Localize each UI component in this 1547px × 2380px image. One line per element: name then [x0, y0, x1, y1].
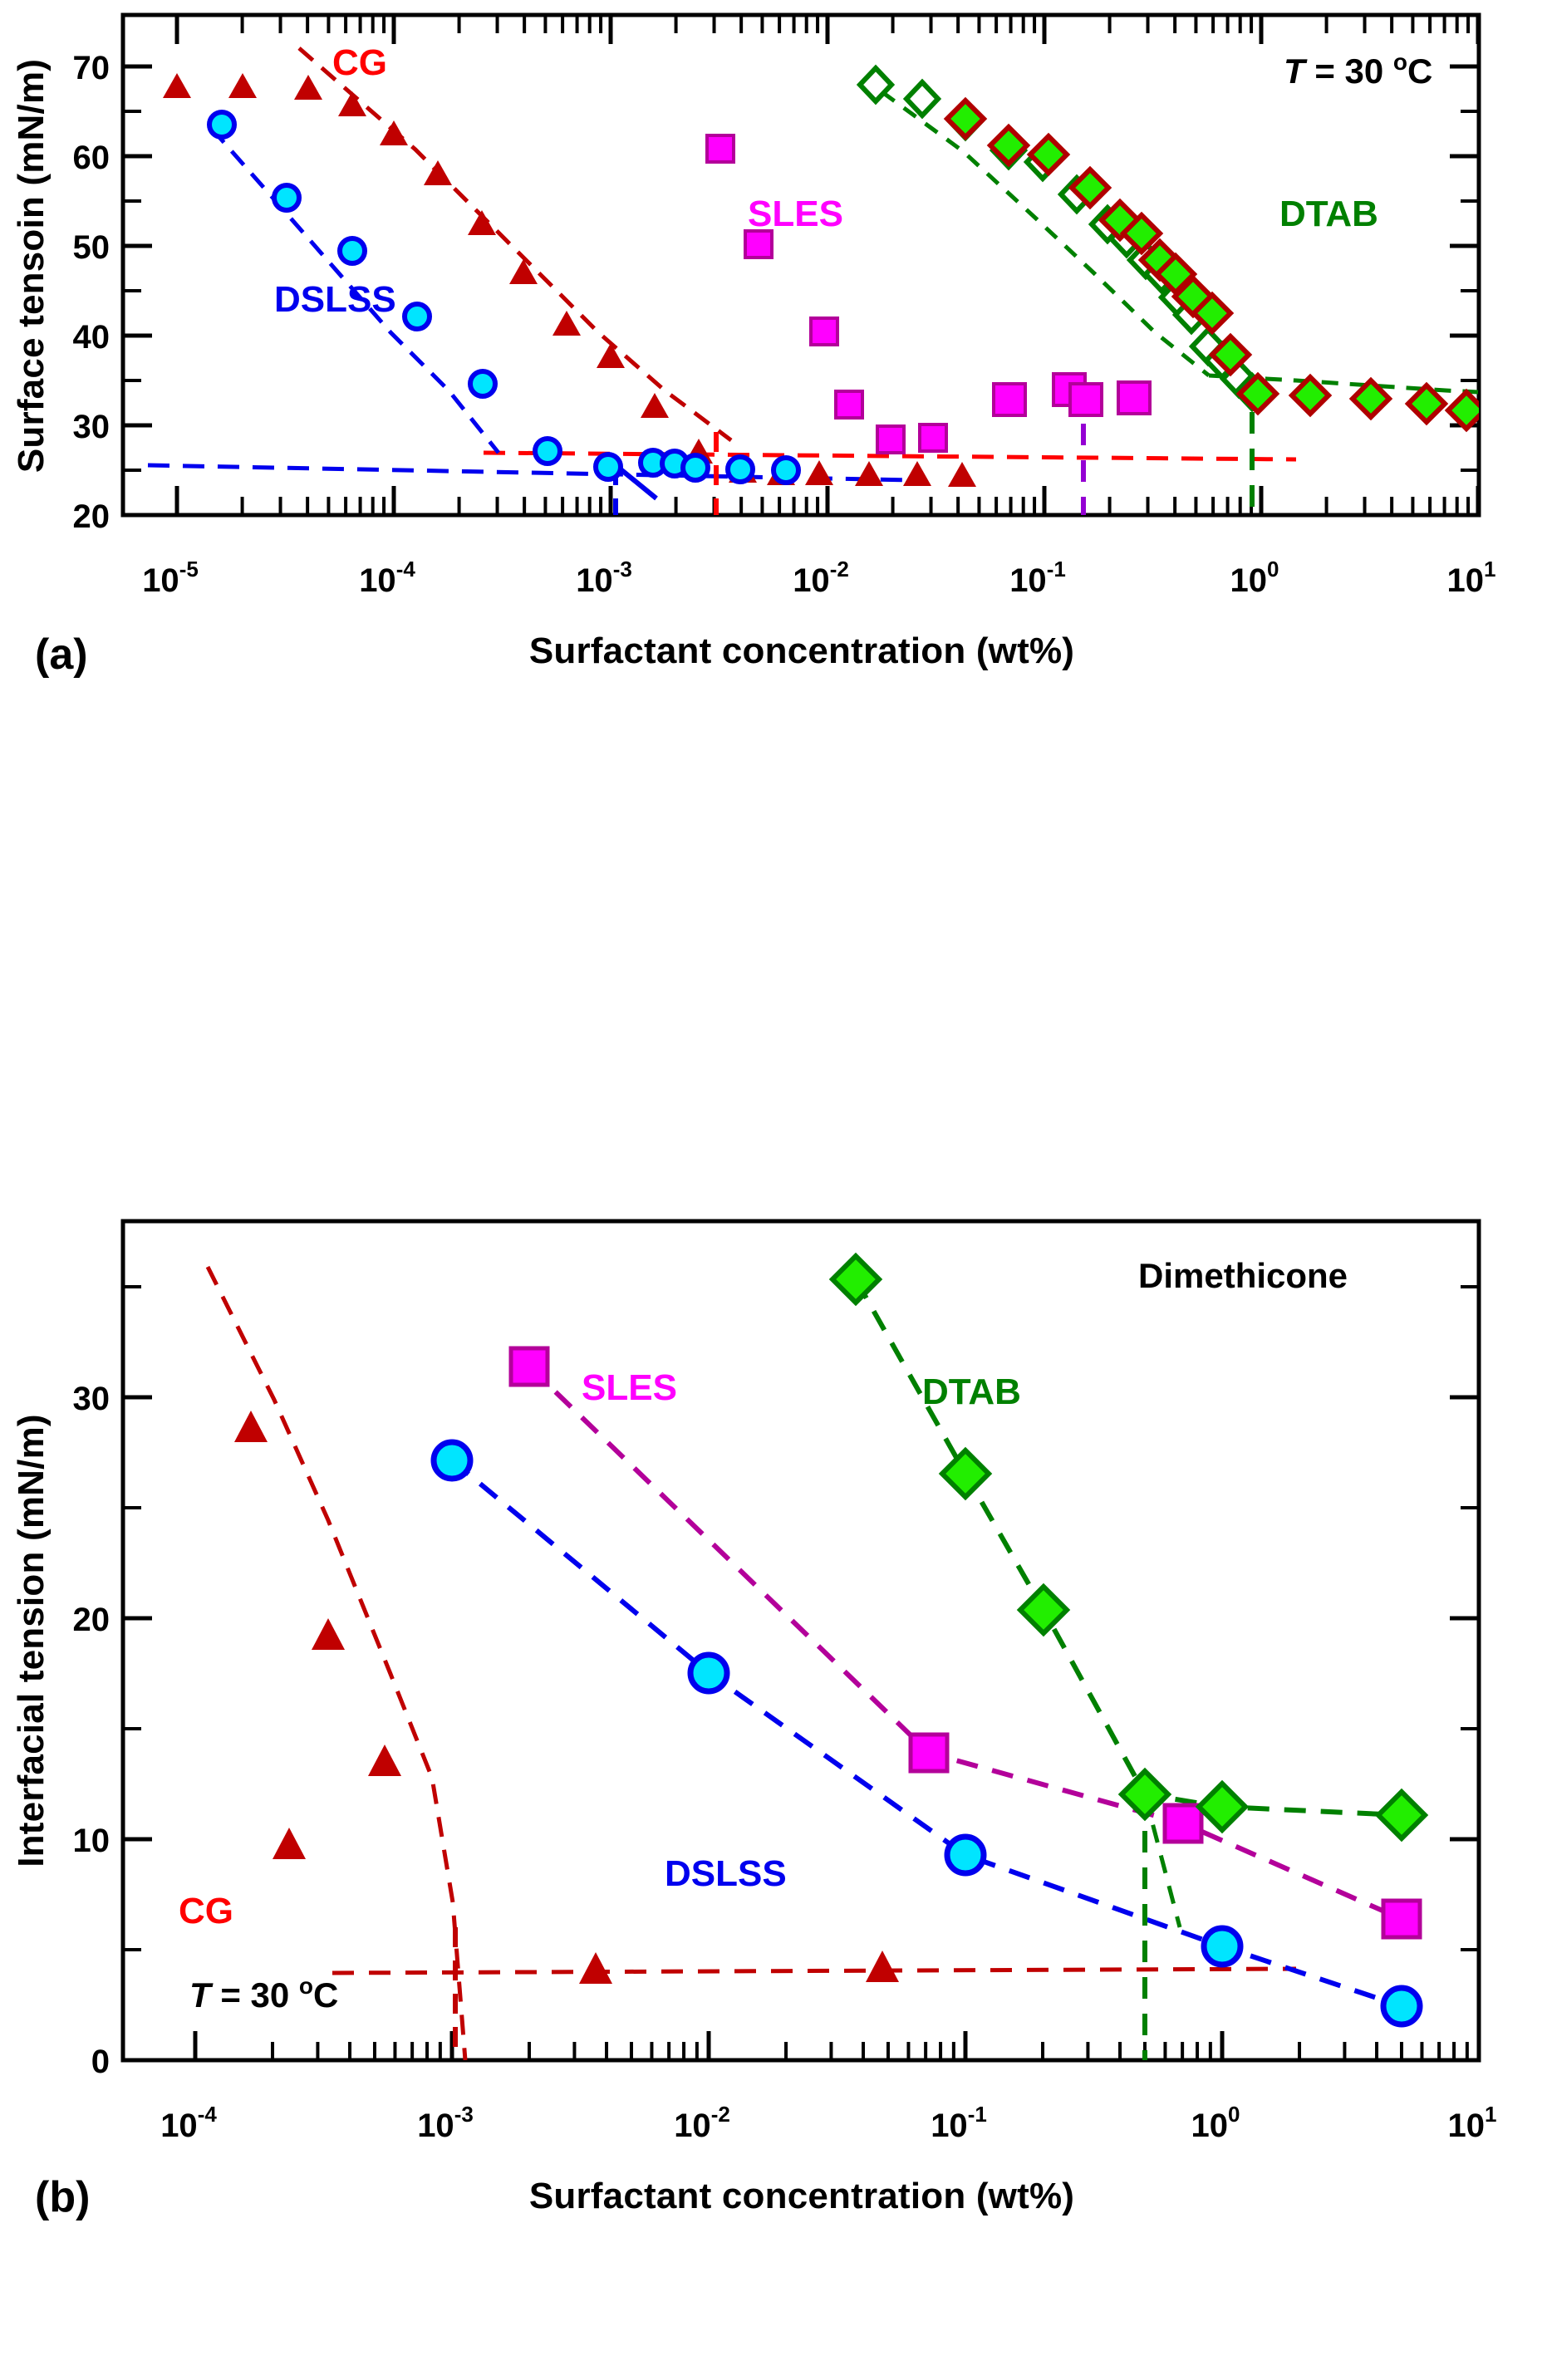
- x-tick-base: 10: [1191, 2108, 1229, 2144]
- svg-text:100: 100: [1191, 2102, 1240, 2144]
- x-tick-base: 10: [1009, 562, 1047, 599]
- panel-b-y-axis-ticks: [123, 1397, 1479, 2060]
- panel-b: 0 10 20 30 10-4 10-3 10-2 10-1 100 101 C…: [0, 1196, 1547, 2380]
- x-tick-exp: 1: [1484, 557, 1495, 582]
- x-tick-base: 10: [576, 562, 613, 599]
- panel-a-y-axis-title: Surface tensoin (mN/m): [11, 59, 52, 473]
- series-label-sles: SLES: [582, 1367, 677, 1408]
- oil-annotation: Dimethicone: [1138, 1256, 1348, 1295]
- y-tick-label: 10: [73, 1823, 110, 1859]
- x-tick-base: 10: [1230, 562, 1268, 599]
- temp-symbol: T: [189, 1975, 214, 2014]
- x-tick-exp: -4: [198, 2102, 218, 2127]
- panel-a-svg: 20 30 40 50 60 70 10-5 10-4 10-3 10-2 10…: [0, 0, 1547, 1180]
- x-tick-base: 10: [160, 2108, 198, 2144]
- x-tick-base: 10: [1448, 2108, 1486, 2144]
- y-tick-label: 20: [73, 1602, 110, 1638]
- series-cg-markers-b: [234, 1411, 899, 1984]
- x-tick-exp: -3: [454, 2102, 474, 2127]
- temp-value: = 30: [1305, 52, 1393, 91]
- panel-a-x-tick-labels: 10-5 10-4 10-3 10-2 10-1 100 101: [142, 557, 1495, 599]
- series-dtab-filled-markers-a: [947, 101, 1485, 429]
- y-tick-label: 0: [91, 2044, 110, 2080]
- series-label-dslss: DSLSS: [665, 1853, 787, 1894]
- svg-text:100: 100: [1230, 557, 1279, 599]
- y-tick-label: 70: [73, 50, 110, 86]
- panel-a-label: (a): [35, 631, 88, 679]
- panel-b-y-axis-title: Interfacial tension (mN/m): [11, 1414, 52, 1867]
- series-label-cg: CG: [179, 1891, 233, 1931]
- y-tick-label: 20: [73, 498, 110, 535]
- degree-symbol: o: [299, 1973, 313, 1999]
- y-tick-label: 40: [73, 319, 110, 356]
- series-label-dtab: DTAB: [1279, 194, 1378, 234]
- panel-b-x-axis-ticks: [195, 2031, 1479, 2060]
- svg-text:10-4: 10-4: [359, 557, 415, 599]
- panel-a-y-tick-labels: 20 30 40 50 60 70: [73, 50, 110, 535]
- x-tick-exp: -2: [711, 2102, 730, 2127]
- svg-text:10-2: 10-2: [793, 557, 849, 599]
- svg-text:10-2: 10-2: [674, 2102, 730, 2144]
- x-tick-exp: -3: [613, 557, 632, 582]
- panel-b-x-tick-labels: 10-4 10-3 10-2 10-1 100 101: [160, 2102, 1496, 2144]
- x-tick-exp: 1: [1485, 2102, 1496, 2127]
- panel-b-x-axis-title: Surfactant concentration (wt%): [529, 2176, 1074, 2216]
- temperature-annotation: T = 30 oC: [1284, 49, 1432, 91]
- y-tick-label: 30: [73, 1381, 110, 1417]
- x-tick-base: 10: [674, 2108, 711, 2144]
- series-label-dtab: DTAB: [922, 1372, 1021, 1412]
- panel-a-frame: [123, 15, 1479, 515]
- x-tick-base: 10: [142, 562, 179, 599]
- x-tick-exp: -5: [179, 557, 199, 582]
- y-tick-label: 50: [73, 229, 110, 266]
- y-tick-label: 30: [73, 409, 110, 445]
- temp-value: = 30: [211, 1975, 299, 2014]
- panel-b-y-axis-minor-ticks: [123, 1287, 1479, 1950]
- svg-text:10-5: 10-5: [142, 557, 199, 599]
- svg-text:10-4: 10-4: [160, 2102, 217, 2144]
- x-tick-base: 10: [359, 562, 396, 599]
- panel-b-label: (b): [35, 2173, 90, 2221]
- x-tick-exp: -1: [1047, 557, 1066, 582]
- panel-a-x-axis-title: Surfactant concentration (wt%): [529, 631, 1074, 671]
- svg-text:10-3: 10-3: [576, 557, 632, 599]
- x-tick-base: 10: [417, 2108, 454, 2144]
- svg-text:10-1: 10-1: [931, 2102, 987, 2144]
- series-label-cg: CG: [332, 42, 387, 83]
- temperature-annotation: T = 30 oC: [189, 1973, 338, 2014]
- series-dtab-open-markers-a: [860, 68, 1268, 409]
- x-tick-exp: 0: [1267, 557, 1279, 582]
- series-dslss-line-a: [148, 129, 914, 480]
- svg-text:101: 101: [1448, 2102, 1497, 2144]
- x-tick-exp: -1: [968, 2102, 987, 2127]
- celsius-symbol: C: [1407, 52, 1432, 91]
- series-label-dslss: DSLSS: [274, 279, 396, 320]
- x-tick-exp: -4: [396, 557, 416, 582]
- panel-a: 20 30 40 50 60 70 10-5 10-4 10-3 10-2 10…: [0, 0, 1547, 1180]
- series-cg-line-b: [208, 1267, 1296, 2062]
- svg-text:101: 101: [1447, 557, 1496, 599]
- temp-symbol: T: [1284, 52, 1308, 91]
- x-tick-base: 10: [1447, 562, 1485, 599]
- series-label-sles: SLES: [748, 194, 843, 234]
- panel-b-svg: 0 10 20 30 10-4 10-3 10-2 10-1 100 101 C…: [0, 1196, 1547, 2380]
- svg-text:10-3: 10-3: [417, 2102, 474, 2144]
- svg-text:10-1: 10-1: [1009, 557, 1066, 599]
- figure-root: 20 30 40 50 60 70 10-5 10-4 10-3 10-2 10…: [0, 0, 1547, 2380]
- celsius-symbol: C: [313, 1975, 338, 2014]
- y-tick-label: 60: [73, 140, 110, 176]
- x-tick-exp: -2: [830, 557, 849, 582]
- x-tick-exp: 0: [1228, 2102, 1240, 2127]
- x-tick-base: 10: [931, 2108, 968, 2144]
- degree-symbol: o: [1393, 49, 1407, 75]
- x-tick-base: 10: [793, 562, 830, 599]
- panel-b-y-tick-labels: 0 10 20 30: [73, 1381, 110, 2080]
